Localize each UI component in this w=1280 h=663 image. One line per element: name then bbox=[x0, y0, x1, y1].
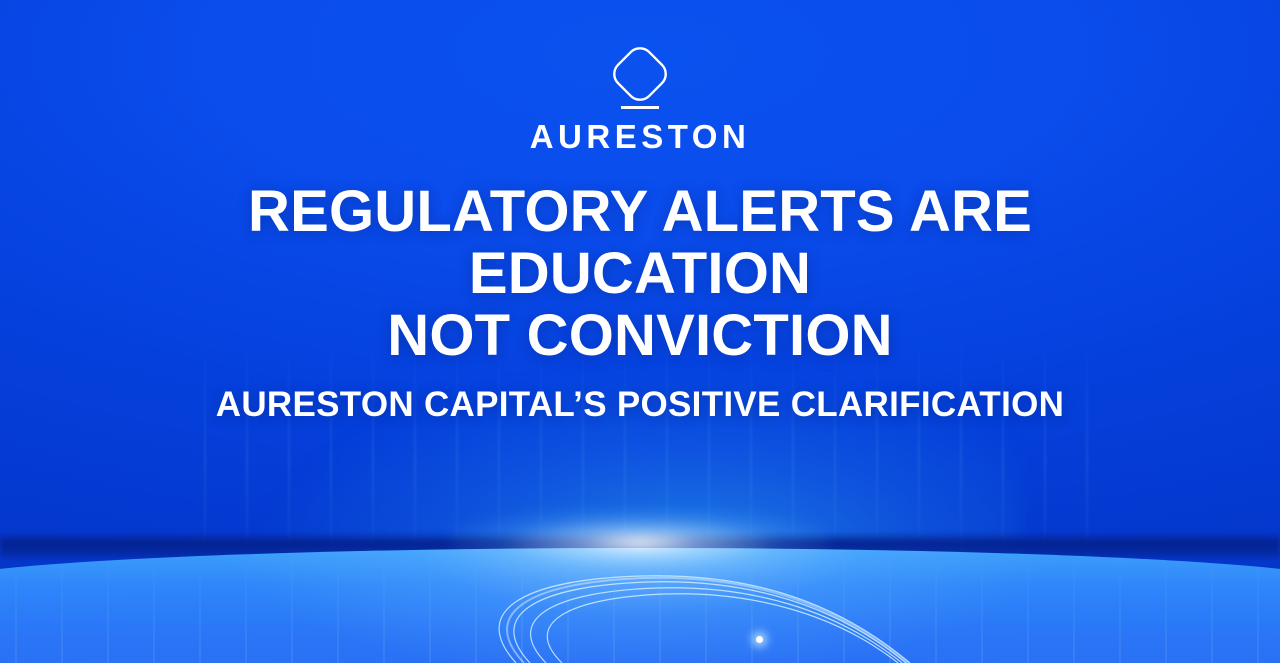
headline-line-2: NOT CONVICTION bbox=[110, 305, 1170, 367]
trail-light-dot bbox=[756, 636, 763, 643]
page-title: REGULATORY ALERTS ARE EDUCATION NOT CONV… bbox=[110, 181, 1170, 367]
promotional-banner: AURESTON REGULATORY ALERTS ARE EDUCATION… bbox=[0, 0, 1280, 663]
brand-logo: AURESTON bbox=[0, 0, 1280, 153]
banner-content: AURESTON REGULATORY ALERTS ARE EDUCATION… bbox=[0, 0, 1280, 425]
light-trails bbox=[0, 520, 1280, 663]
brand-wordmark: AURESTON bbox=[0, 120, 1280, 153]
headline-line-1: REGULATORY ALERTS ARE EDUCATION bbox=[248, 179, 1032, 306]
subtitle: AURESTON CAPITAL’S POSITIVE CLARIFICATIO… bbox=[0, 385, 1280, 425]
rotated-rounded-square-outline-icon bbox=[605, 42, 675, 114]
